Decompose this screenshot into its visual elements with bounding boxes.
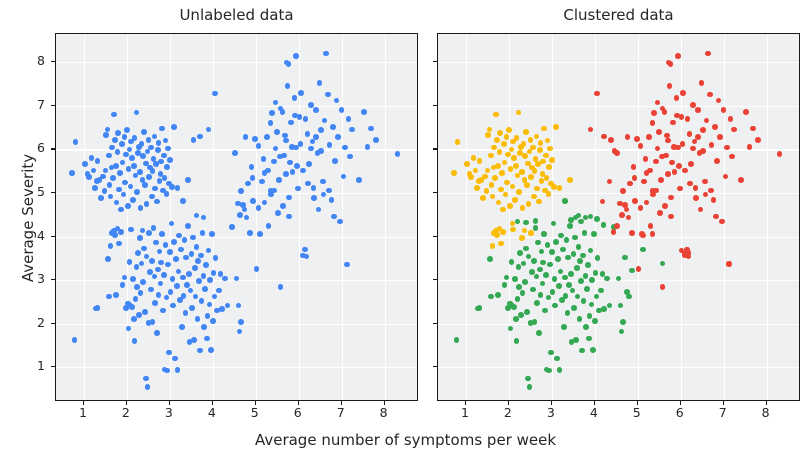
scatter-point bbox=[521, 141, 527, 147]
scatter-point bbox=[668, 195, 674, 201]
scatter-point bbox=[572, 235, 578, 241]
scatter-point bbox=[140, 153, 146, 159]
scatter-point bbox=[538, 140, 544, 146]
scatter-point bbox=[581, 298, 587, 304]
scatter-point bbox=[536, 330, 542, 336]
scatter-point bbox=[626, 215, 632, 221]
scatter-point bbox=[134, 189, 140, 195]
scatter-point bbox=[674, 95, 680, 101]
scatter-point bbox=[571, 305, 577, 311]
scatter-point bbox=[152, 300, 158, 306]
scatter-point bbox=[112, 137, 118, 143]
scatter-point bbox=[586, 336, 592, 342]
scatter-point bbox=[690, 146, 696, 152]
scatter-point bbox=[711, 197, 717, 203]
scatter-point bbox=[545, 242, 551, 248]
scatter-point bbox=[149, 258, 155, 264]
scatter-point bbox=[199, 298, 205, 304]
scatter-point bbox=[473, 168, 479, 174]
scatter-point bbox=[276, 177, 282, 183]
scatter-point bbox=[201, 273, 207, 279]
scatter-point bbox=[206, 248, 212, 254]
scatter-point bbox=[726, 261, 732, 267]
scatter-point bbox=[305, 181, 311, 187]
scatter-point bbox=[116, 241, 122, 247]
scatter-point bbox=[524, 309, 530, 315]
scatter-point bbox=[175, 367, 181, 373]
scatter-point bbox=[523, 246, 529, 252]
scatter-point bbox=[644, 200, 650, 206]
scatter-point bbox=[625, 134, 631, 140]
scatter-point bbox=[191, 137, 197, 143]
scatter-point bbox=[152, 186, 158, 192]
scatter-point bbox=[265, 168, 271, 174]
scatter-point bbox=[557, 367, 563, 373]
scatter-point bbox=[717, 134, 723, 140]
scatter-point bbox=[174, 283, 180, 289]
scatter-point bbox=[259, 179, 265, 185]
scatter-point bbox=[124, 127, 130, 133]
scatter-point bbox=[698, 207, 704, 213]
scatter-point bbox=[495, 292, 501, 298]
scatter-point bbox=[106, 153, 112, 159]
scatter-point bbox=[238, 319, 244, 325]
scatter-point bbox=[518, 312, 524, 318]
scatter-point bbox=[528, 137, 534, 143]
scatter-point bbox=[660, 284, 666, 290]
scatter-point bbox=[298, 141, 304, 147]
scatter-point bbox=[132, 135, 138, 141]
scatter-point bbox=[601, 306, 607, 312]
scatter-point bbox=[504, 134, 510, 140]
scatter-point bbox=[283, 171, 289, 177]
scatter-point bbox=[496, 200, 502, 206]
scatter-point bbox=[138, 290, 144, 296]
scatter-point bbox=[500, 207, 506, 213]
scatter-point bbox=[693, 195, 699, 201]
scatter-point bbox=[95, 305, 101, 311]
scatter-point bbox=[505, 152, 511, 158]
scatter-point bbox=[330, 124, 336, 130]
scatter-point bbox=[133, 296, 139, 302]
scatter-point bbox=[668, 61, 674, 67]
x-tick-label: 6 bbox=[283, 405, 313, 420]
scatter-point bbox=[135, 250, 141, 256]
scatter-point bbox=[659, 154, 665, 160]
scatter-point bbox=[146, 174, 152, 180]
gridline-vertical bbox=[681, 34, 682, 400]
scatter-point bbox=[583, 273, 589, 279]
scatter-point bbox=[249, 164, 255, 170]
scatter-point bbox=[108, 243, 114, 249]
scatter-point bbox=[69, 170, 75, 176]
scatter-point bbox=[700, 127, 706, 133]
scatter-point bbox=[208, 347, 214, 353]
scatter-point bbox=[115, 149, 121, 155]
scatter-point bbox=[669, 160, 675, 166]
gridline-vertical bbox=[638, 34, 639, 400]
scatter-point bbox=[650, 192, 656, 198]
scatter-point bbox=[331, 214, 337, 220]
scatter-point bbox=[541, 231, 547, 237]
scatter-point bbox=[232, 150, 238, 156]
scatter-point bbox=[497, 149, 503, 155]
scatter-point bbox=[130, 197, 136, 203]
scatter-point bbox=[721, 107, 727, 113]
scatter-point bbox=[282, 133, 288, 139]
scatter-point bbox=[490, 194, 496, 200]
scatter-point bbox=[502, 282, 508, 288]
scatter-point bbox=[495, 163, 501, 169]
scatter-point bbox=[477, 305, 483, 311]
scatter-point bbox=[533, 218, 539, 224]
scatter-point bbox=[293, 53, 299, 59]
y-tick-mark bbox=[51, 61, 55, 62]
scatter-point bbox=[361, 109, 367, 115]
scatter-point bbox=[269, 110, 275, 116]
scatter-point bbox=[487, 127, 493, 133]
scatter-point bbox=[579, 348, 585, 354]
scatter-point bbox=[140, 228, 146, 234]
scatter-point bbox=[641, 179, 647, 185]
scatter-point bbox=[316, 207, 322, 213]
scatter-point bbox=[687, 131, 693, 137]
scatter-point bbox=[519, 169, 525, 175]
scatter-point bbox=[286, 214, 292, 220]
scatter-point bbox=[127, 259, 133, 265]
scatter-point bbox=[680, 141, 686, 147]
scatter-point bbox=[627, 181, 633, 187]
scatter-point bbox=[103, 132, 109, 138]
scatter-point bbox=[555, 256, 561, 262]
scatter-point bbox=[165, 262, 171, 268]
scatter-point bbox=[592, 318, 598, 324]
scatter-point bbox=[521, 261, 527, 267]
scatter-point bbox=[344, 262, 350, 268]
scatter-point bbox=[91, 168, 97, 174]
scatter-point bbox=[252, 136, 258, 142]
scatter-point bbox=[534, 186, 540, 192]
scatter-point bbox=[185, 223, 191, 229]
scatter-point bbox=[286, 195, 292, 201]
scatter-point bbox=[164, 191, 170, 197]
scatter-point bbox=[157, 249, 163, 255]
scatter-point bbox=[524, 182, 530, 188]
gridline-horizontal bbox=[438, 324, 799, 325]
scatter-point bbox=[277, 154, 283, 160]
scatter-point bbox=[256, 205, 262, 211]
scatter-point bbox=[264, 134, 270, 140]
scatter-point bbox=[118, 229, 124, 235]
x-tick-label: 3 bbox=[536, 405, 566, 420]
scatter-point bbox=[703, 192, 709, 198]
scatter-point bbox=[571, 251, 577, 257]
y-tick-mark bbox=[51, 366, 55, 367]
scatter-point bbox=[305, 131, 311, 137]
scatter-point bbox=[160, 308, 166, 314]
scatter-point bbox=[675, 53, 681, 59]
gridline-vertical bbox=[342, 34, 343, 400]
scatter-point bbox=[203, 262, 209, 268]
y-tick-mark bbox=[433, 105, 437, 106]
scatter-point bbox=[543, 272, 549, 278]
scatter-point bbox=[261, 156, 267, 162]
scatter-point bbox=[195, 316, 201, 322]
scatter-point bbox=[82, 161, 88, 167]
scatter-point bbox=[181, 293, 187, 299]
scatter-point bbox=[632, 175, 638, 181]
y-tick-mark bbox=[433, 279, 437, 280]
scatter-point bbox=[201, 215, 207, 221]
scatter-point bbox=[693, 185, 699, 191]
scatter-point bbox=[548, 350, 554, 356]
scatter-point bbox=[471, 155, 477, 161]
scatter-point bbox=[150, 319, 156, 325]
scatter-point bbox=[146, 137, 152, 143]
x-tick-label: 4 bbox=[197, 405, 227, 420]
scatter-point bbox=[162, 175, 168, 181]
scatter-point bbox=[747, 144, 753, 150]
scatter-point bbox=[604, 276, 610, 282]
scatter-point bbox=[743, 109, 749, 115]
scatter-point bbox=[544, 175, 550, 181]
scatter-point bbox=[130, 276, 136, 282]
scatter-point bbox=[562, 275, 568, 281]
scatter-point bbox=[451, 170, 457, 176]
scatter-point bbox=[158, 260, 164, 266]
scatter-point bbox=[553, 124, 559, 130]
gridline-vertical bbox=[256, 34, 257, 400]
scatter-point bbox=[167, 157, 173, 163]
scatter-point bbox=[588, 127, 594, 133]
scatter-point bbox=[532, 319, 538, 325]
scatter-point bbox=[509, 259, 515, 265]
scatter-point bbox=[523, 129, 529, 135]
gridline-horizontal bbox=[56, 367, 417, 368]
scatter-point bbox=[545, 138, 551, 144]
scatter-point bbox=[308, 146, 314, 152]
scatter-point bbox=[141, 129, 147, 135]
scatter-point bbox=[179, 324, 185, 330]
scatter-point bbox=[526, 201, 532, 207]
scatter-point bbox=[193, 294, 199, 300]
scatter-point bbox=[189, 305, 195, 311]
y-tick-mark bbox=[51, 236, 55, 237]
x-tick-label: 7 bbox=[708, 405, 738, 420]
scatter-point bbox=[73, 139, 79, 145]
scatter-point bbox=[668, 214, 674, 220]
scatter-point bbox=[547, 262, 553, 268]
scatter-point bbox=[530, 287, 536, 293]
scatter-point bbox=[488, 153, 494, 159]
scatter-point bbox=[520, 205, 526, 211]
scatter-point bbox=[523, 220, 529, 226]
scatter-point bbox=[587, 313, 593, 319]
scatter-point bbox=[714, 158, 720, 164]
scatter-point bbox=[656, 129, 662, 135]
scatter-point bbox=[508, 326, 514, 332]
scatter-point bbox=[509, 147, 515, 153]
scatter-point bbox=[152, 134, 158, 140]
scatter-point bbox=[618, 303, 624, 309]
scatter-point bbox=[614, 223, 620, 229]
scatter-point bbox=[500, 229, 506, 235]
scatter-point bbox=[513, 316, 519, 322]
scatter-point bbox=[322, 118, 328, 124]
scatter-point bbox=[219, 306, 225, 312]
scatter-point bbox=[195, 258, 201, 264]
scatter-point bbox=[532, 168, 538, 174]
scatter-point bbox=[289, 144, 295, 150]
gridline-horizontal bbox=[438, 237, 799, 238]
scatter-point bbox=[212, 91, 218, 97]
scatter-point bbox=[225, 303, 231, 309]
scatter-point bbox=[111, 112, 117, 118]
scatter-point bbox=[585, 262, 591, 268]
scatter-point bbox=[170, 303, 176, 309]
scatter-point bbox=[145, 384, 151, 390]
scatter-point bbox=[118, 207, 124, 213]
scatter-point bbox=[185, 177, 191, 183]
scatter-point bbox=[89, 155, 95, 161]
scatter-point bbox=[183, 255, 189, 261]
scatter-point bbox=[522, 279, 528, 285]
gridline-horizontal bbox=[56, 237, 417, 238]
scatter-point bbox=[266, 223, 272, 229]
scatter-point bbox=[136, 312, 142, 318]
scatter-point bbox=[180, 275, 186, 281]
scatter-point bbox=[142, 182, 148, 188]
scatter-point bbox=[594, 294, 600, 300]
scatter-point bbox=[588, 248, 594, 254]
scatter-point bbox=[591, 231, 597, 237]
scatter-point bbox=[308, 102, 314, 108]
scatter-point bbox=[285, 83, 291, 89]
scatter-point bbox=[209, 231, 215, 237]
scatter-point bbox=[166, 350, 172, 356]
scatter-point bbox=[311, 195, 317, 201]
scatter-point bbox=[188, 288, 194, 294]
y-tick-mark bbox=[51, 105, 55, 106]
scatter-point bbox=[222, 276, 228, 282]
scatter-point bbox=[519, 235, 525, 241]
scatter-point bbox=[510, 184, 516, 190]
scatter-point bbox=[512, 197, 518, 203]
scatter-point bbox=[186, 271, 192, 277]
scatter-point bbox=[262, 200, 268, 206]
scatter-point bbox=[536, 199, 542, 205]
scatter-point bbox=[580, 253, 586, 259]
scatter-point bbox=[323, 51, 329, 57]
scatter-point bbox=[142, 309, 148, 315]
scatter-point bbox=[685, 116, 691, 122]
scatter-point bbox=[731, 127, 737, 133]
scatter-point bbox=[365, 144, 371, 150]
scatter-point bbox=[143, 376, 149, 382]
scatter-point bbox=[655, 100, 661, 106]
scatter-point bbox=[560, 247, 566, 253]
scatter-point bbox=[507, 203, 513, 209]
scatter-point bbox=[198, 253, 204, 259]
gridline-vertical bbox=[724, 34, 725, 400]
scatter-point bbox=[629, 268, 635, 274]
x-tick-label: 2 bbox=[111, 405, 141, 420]
scatter-point bbox=[487, 256, 493, 262]
scatter-point bbox=[194, 244, 200, 250]
scatter-point bbox=[171, 239, 177, 245]
scatter-point bbox=[148, 287, 154, 293]
scatter-point bbox=[274, 129, 280, 135]
scatter-point bbox=[329, 197, 335, 203]
scatter-point bbox=[126, 326, 132, 332]
scatter-point bbox=[589, 302, 595, 308]
scatter-point bbox=[540, 159, 546, 165]
scatter-point bbox=[537, 147, 543, 153]
scatter-point bbox=[690, 102, 696, 108]
scatter-point bbox=[664, 133, 670, 139]
scatter-point bbox=[552, 276, 558, 282]
scatter-point bbox=[169, 221, 175, 227]
scatter-point bbox=[169, 184, 175, 190]
scatter-point bbox=[686, 250, 692, 256]
scatter-point bbox=[528, 174, 534, 180]
scatter-point bbox=[349, 127, 355, 133]
scatter-point bbox=[196, 278, 202, 284]
scatter-point bbox=[105, 127, 111, 133]
scatter-point bbox=[535, 240, 541, 246]
scatter-point bbox=[510, 227, 516, 233]
scatter-point bbox=[137, 169, 143, 175]
scatter-point bbox=[156, 140, 162, 146]
scatter-point bbox=[468, 174, 474, 180]
y-tick-mark bbox=[433, 236, 437, 237]
scatter-point bbox=[117, 170, 123, 176]
scatter-point bbox=[577, 258, 583, 264]
scatter-point bbox=[546, 295, 552, 301]
scatter-point bbox=[197, 348, 203, 354]
scatter-point bbox=[640, 233, 646, 239]
scatter-point bbox=[132, 338, 138, 344]
scatter-point bbox=[300, 168, 306, 174]
scatter-point bbox=[278, 284, 284, 290]
panel-title-clustered: Clustered data bbox=[437, 6, 800, 24]
scatter-point bbox=[543, 153, 549, 159]
scatter-point bbox=[662, 203, 668, 209]
scatter-point bbox=[573, 337, 579, 343]
scatter-point bbox=[494, 232, 500, 238]
scatter-point bbox=[567, 223, 573, 229]
scatter-point bbox=[119, 141, 125, 147]
scatter-point bbox=[512, 276, 518, 282]
scatter-point bbox=[153, 240, 159, 246]
scatter-point bbox=[154, 330, 160, 336]
scatter-point bbox=[563, 293, 569, 299]
scatter-point bbox=[589, 277, 595, 283]
scatter-point bbox=[709, 142, 715, 148]
scatter-point bbox=[108, 194, 114, 200]
scatter-point bbox=[695, 134, 701, 140]
scatter-point bbox=[112, 232, 118, 238]
scatter-point bbox=[640, 247, 646, 253]
scatter-point bbox=[295, 186, 301, 192]
x-tick-label: 5 bbox=[622, 405, 652, 420]
scatter-point bbox=[648, 223, 654, 229]
scatter-point bbox=[533, 225, 539, 231]
scatter-point bbox=[554, 356, 560, 362]
scatter-point bbox=[516, 189, 522, 195]
gridline-horizontal bbox=[56, 62, 417, 63]
scatter-point bbox=[155, 267, 161, 273]
